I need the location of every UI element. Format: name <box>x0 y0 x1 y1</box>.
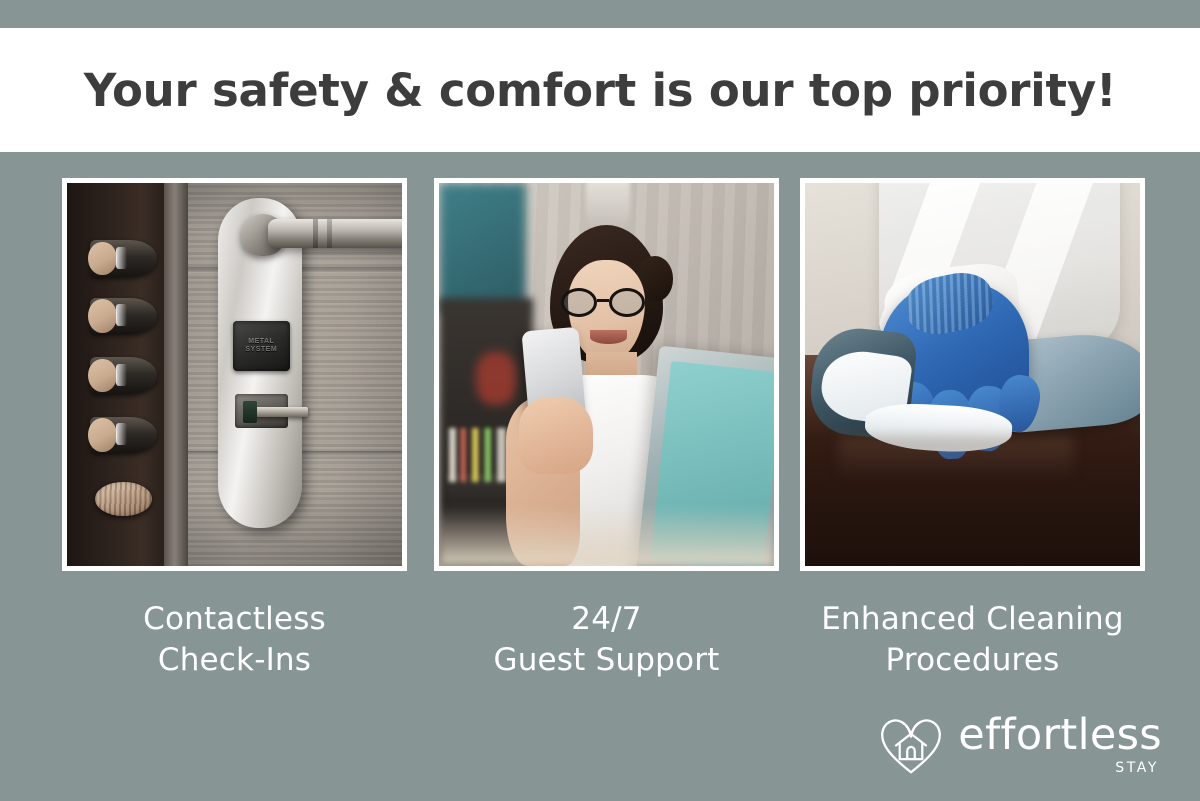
photo-contactless-door-lock: METAL SYSTEM <box>67 183 402 566</box>
metal-system-line2: SYSTEM <box>245 346 277 353</box>
photo-frame <box>800 178 1145 571</box>
logo-text: effortless STAY <box>958 714 1162 775</box>
caption-line-2: Procedures <box>800 640 1145 681</box>
foreground-blur <box>439 505 774 566</box>
caption-line-1: Enhanced Cleaning <box>821 601 1124 637</box>
pens <box>449 428 506 482</box>
metal-system-line1: METAL <box>248 338 274 345</box>
eyeglasses <box>561 288 645 317</box>
logo-tagline: STAY <box>1115 760 1159 776</box>
deadbolt-pin <box>90 240 157 276</box>
feature-card-contactless-check-ins: METAL SYSTEM Contactless Check-Ins <box>62 178 407 681</box>
photo-enhanced-cleaning <box>805 183 1140 566</box>
promo-poster: Your safety & comfort is our top priorit… <box>0 0 1200 801</box>
eyeglass-lens-left <box>561 288 597 317</box>
deadbolt-pin <box>90 357 157 393</box>
caption-line-2: Guest Support <box>434 640 779 681</box>
lever-handle-bar <box>268 219 402 248</box>
deadbolt-pin <box>90 298 157 334</box>
logo-wordmark: effortless <box>958 714 1162 756</box>
photo-guest-support-woman <box>439 183 774 566</box>
door-metal-strip <box>164 183 187 566</box>
caption-line-1: Contactless <box>143 601 326 637</box>
photo-frame <box>434 178 779 571</box>
table-reflection <box>839 436 1074 482</box>
photo-frame: METAL SYSTEM <box>62 178 407 571</box>
hand-fingers <box>519 397 593 474</box>
eyeglass-bridge <box>597 299 609 302</box>
background-object <box>476 352 516 406</box>
background-teal-panel <box>439 183 526 313</box>
feature-caption: Contactless Check-Ins <box>62 599 407 681</box>
deadbolt-pin <box>90 417 157 453</box>
eyeglass-lens-right <box>609 288 645 317</box>
feature-caption: Enhanced Cleaning Procedures <box>800 599 1145 681</box>
feature-card-guest-support: 24/7 Guest Support <box>434 178 779 681</box>
brand-logo: effortless STAY <box>878 714 1162 776</box>
mouth <box>590 330 627 343</box>
door-key <box>255 407 309 417</box>
caption-line-2: Check-Ins <box>62 640 407 681</box>
feature-caption: 24/7 Guest Support <box>434 599 779 681</box>
headline-band: Your safety & comfort is our top priorit… <box>0 28 1200 152</box>
heart-house-icon <box>878 714 944 776</box>
caption-line-1: 24/7 <box>571 601 641 637</box>
feature-card-enhanced-cleaning: Enhanced Cleaning Procedures <box>800 178 1145 681</box>
page-title: Your safety & comfort is our top priorit… <box>84 64 1117 117</box>
metal-system-badge: METAL SYSTEM <box>233 321 290 371</box>
